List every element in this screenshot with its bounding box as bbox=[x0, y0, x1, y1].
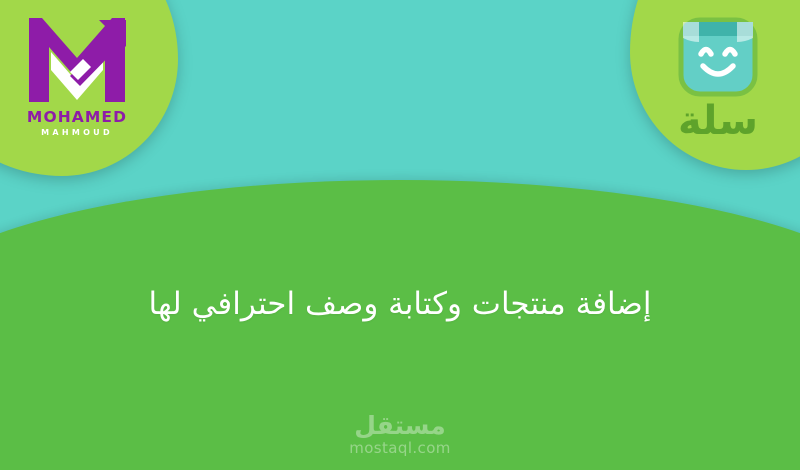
brand-name: MOHAMED bbox=[27, 110, 127, 126]
salla-logo: سلة bbox=[654, 16, 782, 158]
watermark-domain-text: mostaql.com bbox=[349, 441, 451, 456]
smiling-shopping-bag-icon bbox=[677, 16, 759, 98]
mostaql-watermark: مستقل mostaql.com bbox=[0, 413, 800, 456]
watermark-arabic-text: مستقل bbox=[354, 413, 445, 438]
page-title: إضافة منتجات وكتابة وصف احترافي لها bbox=[0, 282, 800, 327]
salla-wordmark: سلة bbox=[678, 100, 758, 142]
letter-m-growth-arrow-icon bbox=[25, 14, 129, 106]
brand-subtitle: MAHMOUD bbox=[41, 129, 113, 137]
brand-logo: MOHAMED MAHMOUD bbox=[14, 14, 140, 154]
portfolio-cover-canvas: MOHAMED MAHMOUD سلة إضافة منتجات وكتابة … bbox=[0, 0, 800, 470]
